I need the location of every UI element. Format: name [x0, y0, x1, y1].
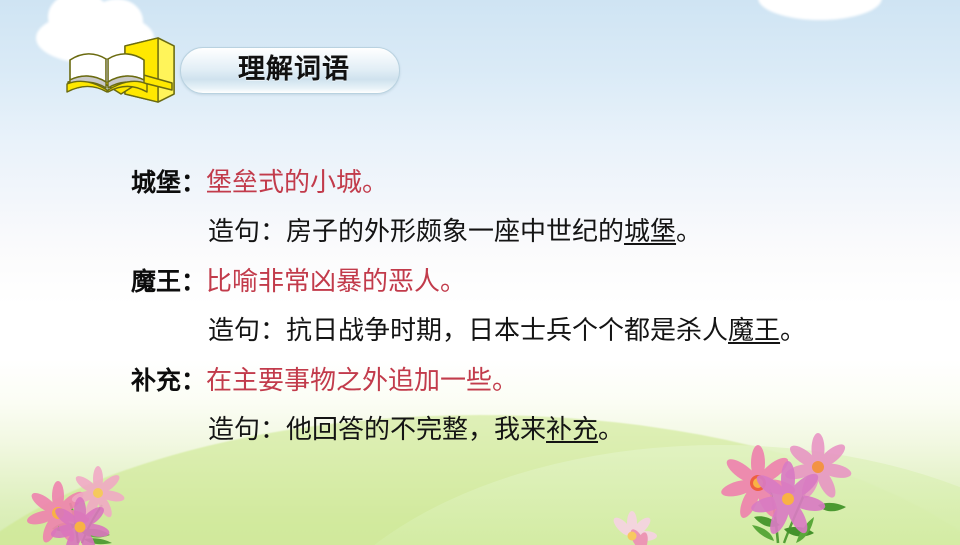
vocabulary-entry: 城堡：堡垒式的小城。 造句：房子的外形颇象一座中世纪的城堡。 [0, 160, 960, 257]
word-colon: ： [181, 268, 206, 296]
example-label: 造句： [208, 415, 286, 444]
word-meaning: 堡垒式的小城。 [206, 168, 388, 197]
word-meaning: 在主要事物之外追加一些。 [206, 366, 518, 395]
vocabulary-list: 城堡：堡垒式的小城。 造句：房子的外形颇象一座中世纪的城堡。 魔王：比喻非常凶暴… [0, 160, 960, 457]
example-label: 造句： [208, 217, 286, 246]
example-keyword: 魔王 [728, 316, 780, 345]
example-sentence-line: 造句：房子的外形颇象一座中世纪的城堡。 [0, 207, 960, 257]
cosmos-flowers-icon-right [700, 425, 890, 545]
vocabulary-word: 城堡 [131, 169, 181, 197]
definition-line: 补充：在主要事物之外追加一些。 [0, 358, 960, 405]
vocabulary-entry: 魔王：比喻非常凶暴的恶人。 造句：抗日战争时期，日本士兵个个都是杀人魔王。 [0, 259, 960, 356]
example-keyword: 城堡 [624, 217, 676, 246]
word-meaning: 比喻非常凶暴的恶人。 [206, 267, 466, 296]
section-header: 理解词语 [62, 34, 352, 106]
vocabulary-word: 补充 [131, 367, 181, 395]
cloud-icon-secondary [758, 0, 882, 20]
slide-canvas: 理解词语 城堡：堡垒式的小城。 造句：房子的外形颇象一座中世纪的城堡。 魔王：比… [0, 0, 960, 545]
example-prefix: 房子的外形颇象一座中世纪的 [286, 217, 624, 246]
cosmos-flower-icon-small [610, 490, 680, 545]
example-label: 造句： [208, 316, 286, 345]
example-keyword: 补充 [546, 415, 598, 444]
cosmos-flowers-icon-left [18, 455, 148, 545]
example-prefix: 他回答的不完整，我来 [286, 415, 546, 444]
definition-line: 城堡：堡垒式的小城。 [0, 160, 960, 207]
example-suffix: 。 [676, 217, 702, 246]
example-suffix: 。 [598, 415, 624, 444]
vocabulary-word: 魔王 [131, 268, 181, 296]
open-book-icon [62, 34, 180, 106]
word-colon: ： [181, 367, 206, 395]
word-colon: ： [181, 169, 206, 197]
section-title: 理解词语 [238, 52, 350, 86]
example-sentence-line: 造句：抗日战争时期，日本士兵个个都是杀人魔王。 [0, 306, 960, 356]
definition-line: 魔王：比喻非常凶暴的恶人。 [0, 259, 960, 306]
example-prefix: 抗日战争时期，日本士兵个个都是杀人 [286, 316, 728, 345]
example-suffix: 。 [780, 316, 806, 345]
